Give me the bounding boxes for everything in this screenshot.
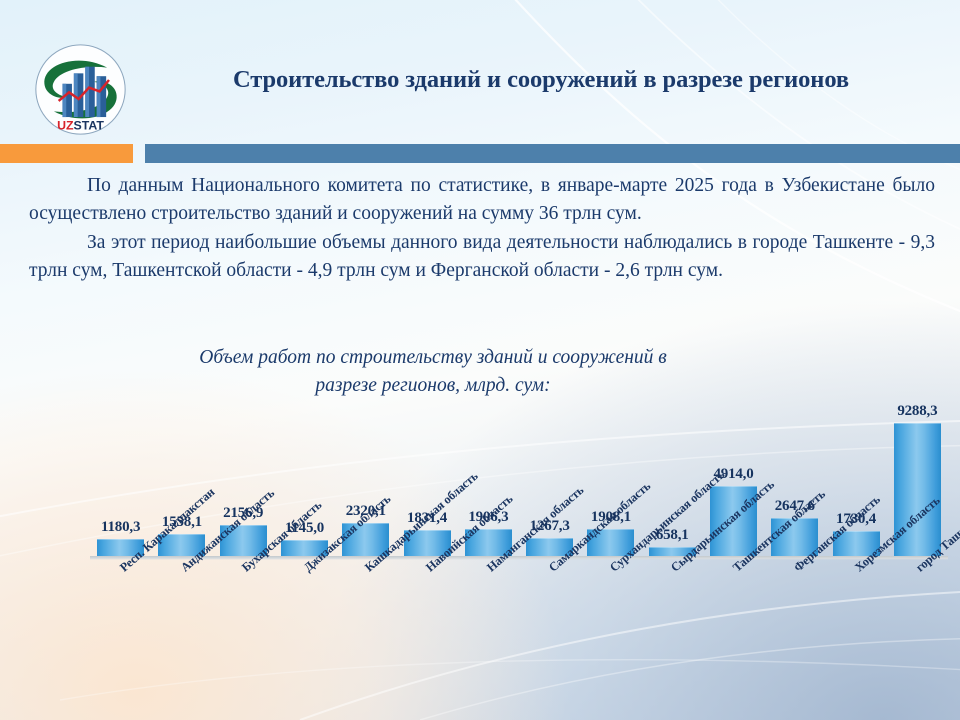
page-title: Строительство зданий и сооружений в разр… bbox=[146, 66, 936, 94]
bar-value-label: 9288,3 bbox=[897, 403, 937, 420]
chart-caption-line-1: Объем работ по строительству зданий и со… bbox=[148, 344, 718, 372]
paragraph-2: За этот период наибольшие объемы данного… bbox=[29, 229, 935, 284]
uzstat-logo: UZSTAT bbox=[33, 42, 128, 137]
accent-band-orange bbox=[0, 144, 133, 163]
accent-band-blue bbox=[145, 144, 960, 163]
slide: UZSTAT Строительство зданий и сооружений… bbox=[0, 0, 960, 720]
body-text: По данным Национального комитета по стат… bbox=[29, 172, 935, 285]
bar-value-label: 1180,3 bbox=[101, 519, 140, 536]
paragraph-1: По данным Национального комитета по стат… bbox=[29, 172, 935, 227]
bar-chart: 1180,31558,12156,91145,02320,11831,41906… bbox=[0, 398, 960, 720]
chart-caption-line-2: разрезе регионов, млрд. сум: bbox=[148, 372, 718, 400]
chart-caption: Объем работ по строительству зданий и со… bbox=[148, 344, 718, 399]
svg-text:UZSTAT: UZSTAT bbox=[57, 118, 104, 132]
bar-group: 1180,3 bbox=[97, 398, 144, 556]
